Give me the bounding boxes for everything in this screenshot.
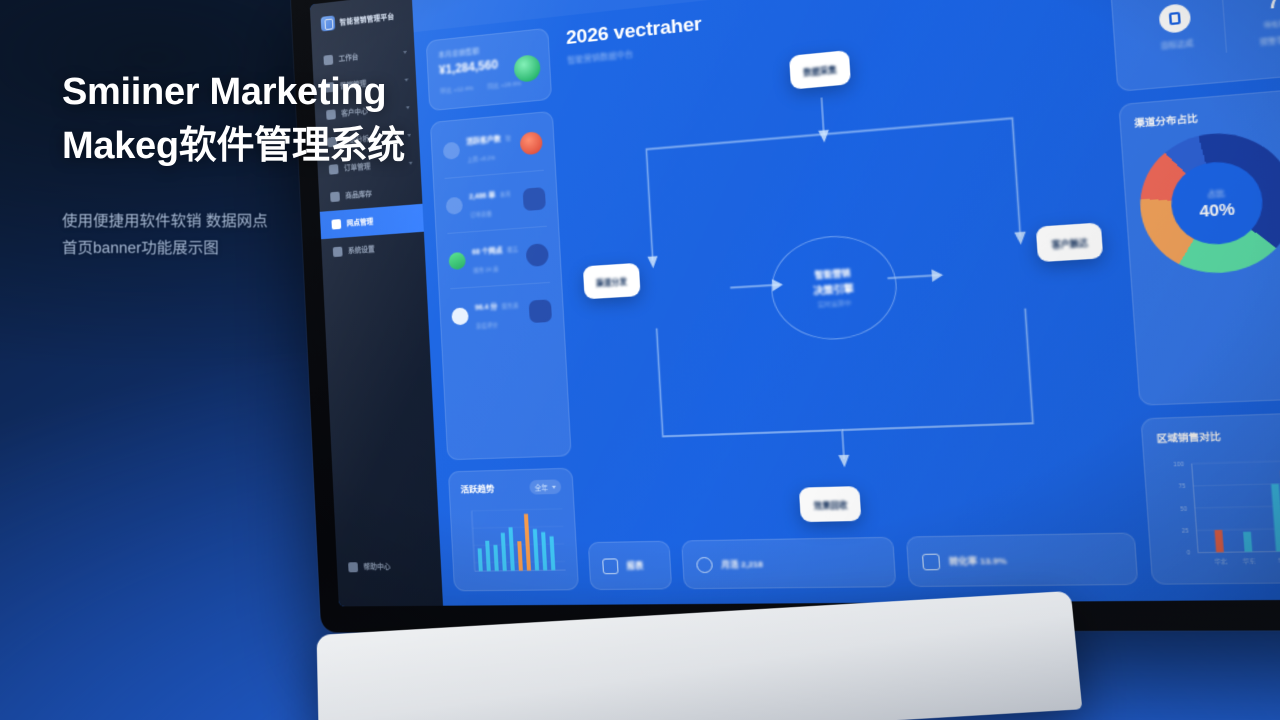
- brand-logo-icon: [321, 15, 336, 31]
- kpi-stat-alerts[interactable]: 7 待处理 预警事项: [1223, 0, 1280, 53]
- promo-headline: Smiiner Marketing Makeg软件管理系统: [62, 66, 482, 174]
- y-tick: 50: [1180, 506, 1188, 513]
- flow-core-line2: 决策引擎: [813, 281, 854, 297]
- star-icon: [451, 307, 469, 325]
- kpi-value: 7: [1267, 0, 1280, 13]
- bar-panel-left-header: 活跃趋势 全年: [460, 479, 561, 496]
- help-icon: [348, 562, 358, 572]
- bar-chart-left: [461, 502, 566, 580]
- kpi-caption: 预警事项: [1259, 33, 1280, 48]
- summary-mini-right: 同比 +28.6%: [487, 78, 521, 90]
- document-icon: [523, 187, 546, 211]
- y-tick: 25: [1181, 528, 1189, 535]
- middle-column: 2026 vectraher 智能营销数据中台 2026年度: [559, 0, 1138, 590]
- bar-chart-right: 100 75 50 25 0: [1158, 447, 1280, 572]
- bar-panel-right-title: 区域销售对比: [1156, 430, 1221, 446]
- pill-label: 全年: [534, 482, 548, 493]
- flow-node-label: 渠道分发: [596, 277, 628, 288]
- list-item-title: 96.4 分: [475, 304, 498, 312]
- promo-copy: Smiiner Marketing Makeg软件管理系统 使用便捷用软件软销 …: [62, 66, 482, 262]
- tile-report[interactable]: 报表: [588, 541, 672, 590]
- refresh-icon: [922, 553, 940, 570]
- bar-panel-left-pill[interactable]: 全年: [529, 479, 561, 494]
- bar-chart-left-svg: [461, 502, 566, 580]
- tile-label: 报表: [626, 560, 643, 572]
- kpi-sub: 待处理: [1263, 17, 1280, 29]
- flow-node-top[interactable]: 数据采集: [789, 50, 851, 90]
- flow-node-label: 效果回收: [814, 501, 848, 512]
- donut-panel-header: 渠道分布占比 明细: [1134, 90, 1280, 131]
- flow-node-label: 客户触达: [1051, 238, 1088, 250]
- main-area: 搜索内容 张经理 管理员 本月总销售额 ¥1,284,560 环: [412, 0, 1280, 606]
- y-tick: 75: [1178, 484, 1186, 491]
- donut-chart: 占比 40%: [1136, 128, 1280, 278]
- list-item[interactable]: 96.4 分 服务满意度评分: [450, 283, 553, 344]
- flow-diagram: 数据采集 渠道分发 客户触达 效果回收: [562, 25, 1134, 530]
- brand-name: 智能营销管理平台: [339, 11, 394, 27]
- dashboard-content: 本月总销售额 ¥1,284,560 环比 +12.4% 同比 +28.6%: [414, 0, 1280, 606]
- bars: [1210, 468, 1280, 553]
- shield-icon: [696, 556, 713, 572]
- globe-icon: [526, 243, 549, 267]
- promo-subcopy: 使用便捷用软件软销 数据网点 首页banner功能展示图: [62, 208, 482, 262]
- tile-monthly-active[interactable]: 月活 2,218: [681, 537, 896, 590]
- flow-core: 智能营销 决策引擎 实时运算中: [768, 232, 900, 343]
- bar-panel-right-header: 区域销售对比 对比: [1156, 420, 1280, 446]
- bar-chart-icon: [602, 558, 618, 574]
- x-tick: 华东: [1242, 557, 1256, 566]
- alert-badge-icon: [520, 131, 543, 155]
- bottom-tiles: 报表 月活 2,218 转化率 13.9%: [588, 532, 1139, 590]
- x-tick: 华北: [1214, 557, 1228, 566]
- sidebar-footer-label: 帮助中心: [363, 562, 390, 572]
- sidebar-item-label: 工作台: [338, 52, 358, 64]
- kpi-caption: 目标达成: [1160, 37, 1193, 51]
- grid-icon: [323, 55, 333, 66]
- flow-node-left[interactable]: 渠道分发: [582, 263, 640, 300]
- kpi-stats: 目标达成 7 待处理 预警事项 审批文件: [1126, 0, 1280, 62]
- tile-conversion[interactable]: 转化率 13.9%: [906, 532, 1139, 587]
- flow-node-label: 数据采集: [803, 65, 837, 78]
- donut-center-value: 40%: [1199, 199, 1236, 220]
- kpi-stat-target[interactable]: 目标达成: [1126, 0, 1228, 62]
- sidebar-footer[interactable]: 帮助中心: [337, 561, 441, 573]
- bar-chart-right-svg: 100 75 50 25 0: [1158, 447, 1280, 572]
- receipt-icon: [529, 299, 552, 323]
- flow-node-right[interactable]: 客户触达: [1036, 222, 1104, 262]
- bar-panel-left-title: 活跃趋势: [460, 482, 494, 495]
- donut-center-label: 占比: [1207, 187, 1225, 200]
- bars: [476, 513, 556, 571]
- flow-node-bottom[interactable]: 效果回收: [799, 486, 862, 522]
- bar-panel-right: 区域销售对比 对比: [1140, 407, 1280, 585]
- chevron-down-icon: [403, 50, 407, 53]
- chevron-down-icon: [552, 485, 556, 488]
- y-tick: 0: [1187, 551, 1191, 558]
- bar-panel-left: 活跃趋势 全年: [448, 468, 579, 592]
- donut-panel: 渠道分布占比 明细 占比 40%: [1118, 76, 1280, 406]
- tile-label: 转化率 13.9%: [949, 554, 1007, 567]
- right-column: 运营核心指标概览 本周 目标达成: [1109, 0, 1280, 585]
- tile-label: 月活 2,218: [721, 558, 763, 570]
- donut-chart-wrap: 占比 40% 线上商城: [1136, 116, 1280, 277]
- flow-core-line1: 智能营销: [814, 267, 850, 281]
- promo-headline-line2: Makeg软件管理系统: [62, 120, 482, 174]
- promo-subcopy-line1: 使用便捷用软件软销 数据网点: [62, 208, 482, 235]
- kpi-panel: 运营核心指标概览 本周 目标达成: [1109, 0, 1280, 92]
- flow-core-line3: 实时运算中: [817, 297, 851, 309]
- donut-panel-title: 渠道分布占比: [1134, 111, 1198, 130]
- promo-subcopy-line2: 首页banner功能展示图: [62, 235, 482, 262]
- target-icon: [1159, 3, 1192, 34]
- promo-headline-line1: Smiiner Marketing: [62, 71, 386, 113]
- y-tick: 100: [1173, 462, 1184, 469]
